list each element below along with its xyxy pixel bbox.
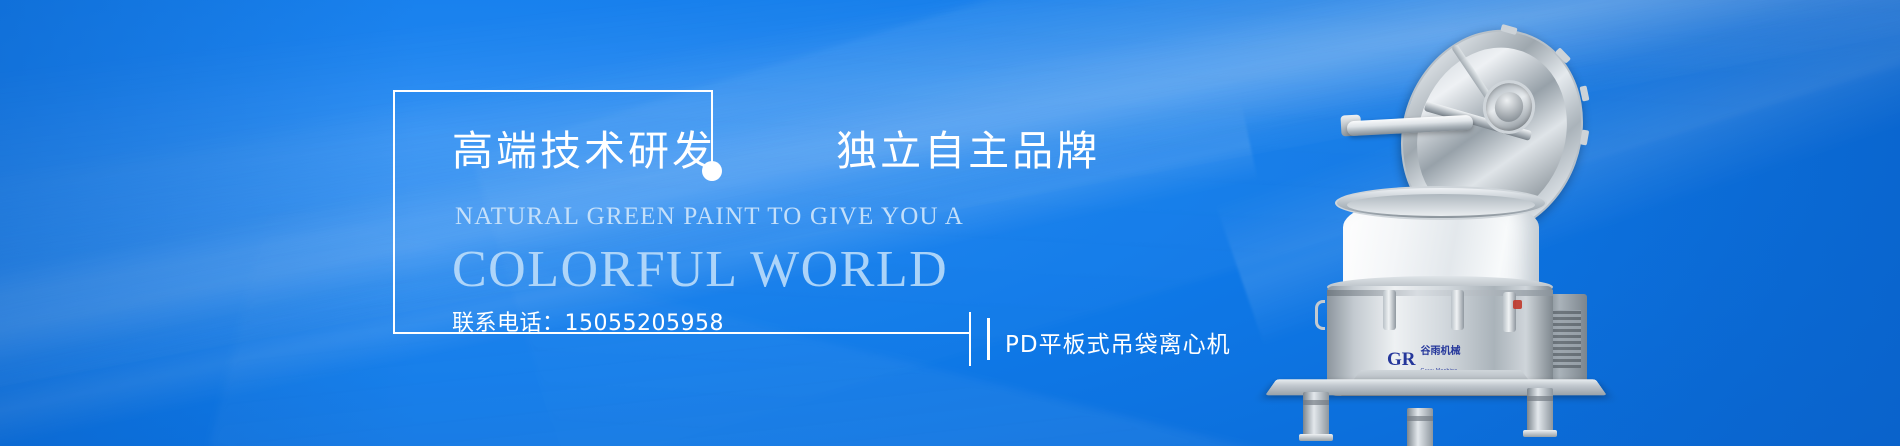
machine-leg [1407, 408, 1433, 446]
machine-leg-foot [1523, 430, 1557, 437]
machine-bag-opening [1347, 194, 1535, 216]
machine-brand-logo: GR 谷雨机械 Guyu Machine [1387, 348, 1483, 370]
product-name-label: PD平板式吊袋离心机 [1005, 325, 1231, 359]
machine-latch [1451, 290, 1464, 330]
headline: 高端技术研发 独立自主品牌 [452, 117, 1100, 177]
machine-leg-ring [1407, 416, 1433, 421]
machine-lid-clamp [1580, 130, 1589, 146]
tagline-english: COLORFUL WORLD [452, 240, 948, 299]
connector-tick-short [987, 318, 990, 360]
machine-drum-band [1327, 290, 1553, 296]
machine-indicator-red [1513, 300, 1522, 309]
promo-banner: 高端技术研发 独立自主品牌 NATURAL GREEN PAINT TO GIV… [0, 0, 1900, 446]
logo-mark-text: GR [1387, 350, 1416, 369]
centrifuge-machine-image: GR 谷雨机械 Guyu Machine [1255, 18, 1615, 418]
logo-chinese-text: 谷雨机械 [1421, 346, 1461, 357]
machine-latch [1383, 290, 1396, 330]
machine-leg-ring [1303, 400, 1329, 405]
contact-phone: 联系电话：15055205958 [452, 305, 724, 337]
machine-leg-foot [1299, 434, 1333, 441]
headline-right-text: 独立自主品牌 [836, 127, 1100, 175]
frame-top-line [393, 90, 713, 92]
connector-tick-long [969, 312, 971, 366]
machine-side-handle [1315, 300, 1325, 330]
machine-leg [1527, 388, 1553, 434]
machine-leg-ring [1527, 396, 1553, 401]
frame-left-line [393, 90, 395, 334]
machine-latch [1503, 292, 1516, 332]
subtitle-english: NATURAL GREEN PAINT TO GIVE YOU A [455, 203, 964, 231]
headline-left-text: 高端技术研发 [452, 127, 716, 175]
machine-leg [1303, 392, 1329, 438]
